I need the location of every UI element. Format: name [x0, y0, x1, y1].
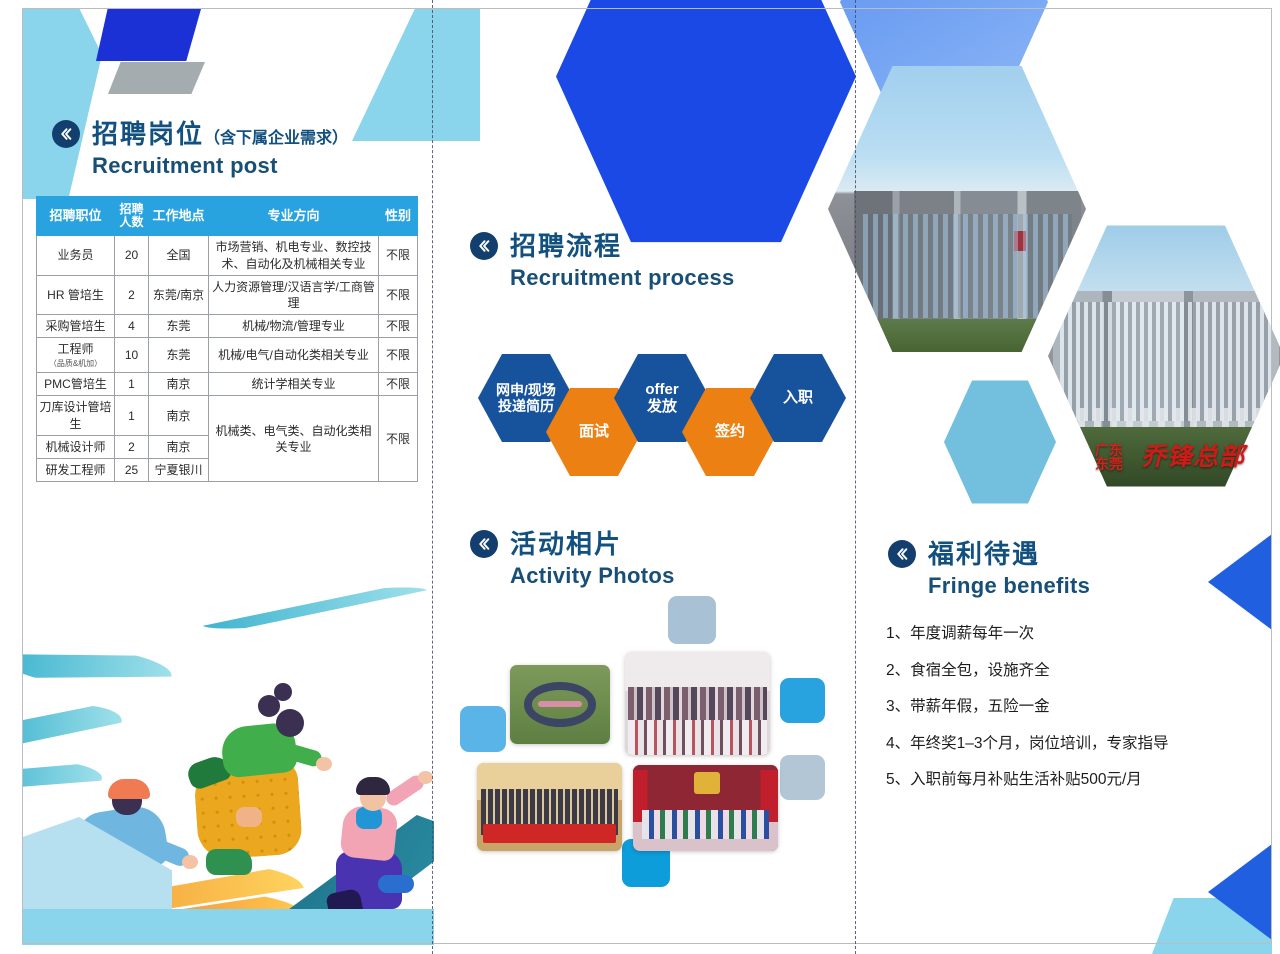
cell-count: 1 [115, 373, 149, 396]
activity-photo-outdoor-circle [510, 665, 610, 744]
table-body: 业务员 20 全国 市场营销、机电专业、数控技术、自动化及机械相关专业 不限 H… [37, 236, 418, 482]
th-count-line2: 人数 [119, 215, 143, 229]
heading-en-benefits: Fringe benefits [928, 573, 1090, 599]
heading-row-photos: 活动相片 [470, 530, 675, 558]
section-heading-posts: 招聘岗位（含下属企业需求） Recruitment post [52, 120, 348, 179]
cell-gender: 不限 [379, 315, 418, 338]
figure-hair [356, 777, 390, 795]
process-step-line1: offer [645, 381, 678, 398]
th-count-line1: 招聘 [119, 202, 143, 216]
cell-position: 工程师 （品质&机加） [37, 338, 115, 373]
recruitment-process-flow: 网申/现场 投递简历 面试 offer 发放 签约 入职 [478, 348, 838, 478]
table-row: 采购管培生 4 东莞 机械/物流/管理专业 不限 [37, 315, 418, 338]
table-row: PMC管培生 1 南京 统计学相关专业 不限 [37, 373, 418, 396]
heading-en-photos: Activity Photos [510, 563, 675, 589]
cell-position: 采购管培生 [37, 315, 115, 338]
page-edge-top [22, 8, 1272, 9]
cell-count: 25 [115, 459, 149, 482]
fold-line-left [432, 0, 433, 954]
process-step-line2: 投递简历 [498, 398, 554, 414]
table-header: 招聘职位 招聘 人数 工作地点 专业方向 性别 [37, 197, 418, 236]
photo-performers [642, 810, 770, 839]
process-step-line2: 发放 [647, 398, 677, 415]
activity-photo-conference-hall [477, 763, 622, 851]
cell-position: PMC管培生 [37, 373, 115, 396]
building-logo-mark [1014, 231, 1026, 251]
photo-lantern [694, 772, 720, 794]
cell-count: 1 [115, 396, 149, 435]
process-step-label: 网申/现场 投递简历 [490, 382, 562, 414]
heading-cn-photos: 活动相片 [510, 531, 622, 557]
cell-position: 机械设计师 [37, 435, 115, 458]
figure-cap [108, 779, 150, 799]
fringe-benefits-list: 1、年度调薪每年一次 2、食宿全包，设施齐全 3、带薪年假，五险一金 4、年终奖… [886, 626, 1216, 809]
illustration-swoosh [22, 701, 123, 750]
cell-major: 机械/物流/管理专业 [209, 315, 379, 338]
th-count: 招聘 人数 [115, 197, 149, 236]
double-chevron-left-icon [52, 120, 80, 148]
cell-count: 4 [115, 315, 149, 338]
table-header-row: 招聘职位 招聘 人数 工作地点 专业方向 性别 [37, 197, 418, 236]
decor-square-blue-left [460, 706, 506, 752]
cell-count: 2 [115, 275, 149, 314]
heading-cn-process: 招聘流程 [510, 233, 622, 259]
cell-location: 东莞/南京 [149, 275, 209, 314]
table-row: 刀库设计管培生 1 南京 机械类、电气类、自动化类相关专业 不限 [37, 396, 418, 435]
figure-hand [316, 757, 332, 771]
cell-major-merged: 机械类、电气类、自动化类相关专业 [209, 396, 379, 482]
heading-cn-posts-text: 招聘岗位 [92, 119, 204, 149]
decor-gray-trapezoid [108, 62, 205, 94]
figure-hand [418, 771, 433, 784]
heading-en-posts: Recruitment post [92, 153, 348, 179]
cell-location: 南京 [149, 396, 209, 435]
cell-count: 2 [115, 435, 149, 458]
cell-position-note: （品质&机加） [39, 359, 112, 370]
illustration-swoosh [199, 585, 430, 637]
cell-gender: 不限 [379, 275, 418, 314]
cell-position: HR 管培生 [37, 275, 115, 314]
cell-position: 刀库设计管培生 [37, 396, 115, 435]
cell-location: 东莞 [149, 315, 209, 338]
cell-location: 南京 [149, 373, 209, 396]
activity-photo-stage-performance [633, 765, 778, 851]
cell-location: 宁夏银川 [149, 459, 209, 482]
photo-red-banner [483, 824, 616, 843]
double-chevron-left-icon [470, 530, 498, 558]
benefit-item: 3、带薪年假，五险一金 [886, 699, 1216, 715]
cell-location: 南京 [149, 435, 209, 458]
benefit-item: 2、食宿全包，设施齐全 [886, 663, 1216, 679]
table-row: 工程师 （品质&机加） 10 东莞 机械/电气/自动化类相关专业 不限 [37, 338, 418, 373]
process-step-label: 签约 [709, 423, 751, 440]
cell-position-main: 工程师 [57, 342, 93, 356]
cell-count: 20 [115, 236, 149, 275]
activity-photo-collage [455, 595, 815, 895]
cell-major: 统计学相关专业 [209, 373, 379, 396]
cell-major: 机械/电气/自动化类相关专业 [209, 338, 379, 373]
page-edge-left [22, 8, 23, 944]
page-edge-right [1271, 8, 1272, 944]
decor-square-slate-right [780, 755, 825, 800]
process-step-line1: 网申/现场 [496, 382, 556, 398]
benefit-item: 4、年终奖1–3个月，岗位培训，专家指导 [886, 736, 1216, 752]
photo-people-front-row [628, 720, 767, 755]
heading-cn-posts-note: （含下属企业需求） [204, 130, 348, 147]
figure-boot-right [378, 875, 414, 893]
figure-hair-bun [274, 683, 292, 701]
figure-head [276, 709, 304, 737]
heading-row-posts: 招聘岗位（含下属企业需求） [52, 120, 348, 148]
heading-cn-posts: 招聘岗位（含下属企业需求） [92, 121, 348, 147]
illustration-figure-pink [322, 773, 432, 929]
decor-blue-trapezoid [96, 9, 201, 61]
brochure-page: 广东 东莞 乔锋总部 招聘岗位（含下属企业需求） Recruitment pos… [0, 0, 1280, 954]
illustration-swoosh [22, 638, 174, 696]
cell-major: 人力资源管理/汉语言学/工商管理 [209, 275, 379, 314]
benefit-item: 1、年度调薪每年一次 [886, 626, 1216, 642]
cell-location: 东莞 [149, 338, 209, 373]
figure-knee [236, 807, 262, 827]
cell-gender-merged: 不限 [379, 396, 418, 482]
table-row: 业务员 20 全国 市场营销、机电专业、数控技术、自动化及机械相关专业 不限 [37, 236, 418, 275]
figure-shoe-back [206, 849, 252, 875]
process-step-label: offer 发放 [639, 381, 684, 416]
activity-photo-group-portrait [625, 652, 770, 755]
recruitment-posts-table: 招聘职位 招聘 人数 工作地点 专业方向 性别 业务员 20 全国 市场营销、机… [36, 196, 418, 482]
decor-square-slate-top [668, 596, 716, 644]
cell-gender: 不限 [379, 373, 418, 396]
process-step-label: 面试 [573, 423, 615, 440]
section-heading-process: 招聘流程 Recruitment process [470, 232, 735, 291]
th-gender: 性别 [379, 197, 418, 236]
cell-gender: 不限 [379, 236, 418, 275]
double-chevron-left-icon [888, 540, 916, 568]
illustration-figure-yellow [190, 703, 330, 883]
fold-line-right [855, 0, 856, 954]
winter-sports-illustration [22, 585, 434, 945]
section-heading-photos: 活动相片 Activity Photos [470, 530, 675, 589]
table-row: HR 管培生 2 东莞/南京 人力资源管理/汉语言学/工商管理 不限 [37, 275, 418, 314]
cell-major: 市场营销、机电专业、数控技术、自动化及机械相关专业 [209, 236, 379, 275]
cell-position: 业务员 [37, 236, 115, 275]
section-heading-benefits: 福利待遇 Fringe benefits [888, 540, 1090, 599]
th-position: 招聘职位 [37, 197, 115, 236]
th-location: 工作地点 [149, 197, 209, 236]
parked-cars [1062, 408, 1270, 427]
double-chevron-left-icon [470, 232, 498, 260]
benefit-item: 5、入职前每月补贴生活补贴500元/月 [886, 772, 1216, 788]
cell-position: 研发工程师 [37, 459, 115, 482]
heading-row-process: 招聘流程 [470, 232, 735, 260]
illustration-ground-strip [22, 909, 434, 945]
decor-square-blue-right [780, 678, 825, 723]
process-step-label: 入职 [777, 389, 819, 406]
heading-row-benefits: 福利待遇 [888, 540, 1090, 568]
heading-cn-benefits: 福利待遇 [928, 541, 1040, 567]
heading-en-process: Recruitment process [510, 265, 735, 291]
page-edge-bottom [22, 943, 1272, 944]
cell-gender: 不限 [379, 338, 418, 373]
cell-location: 全国 [149, 236, 209, 275]
th-major: 专业方向 [209, 197, 379, 236]
cell-count: 10 [115, 338, 149, 373]
